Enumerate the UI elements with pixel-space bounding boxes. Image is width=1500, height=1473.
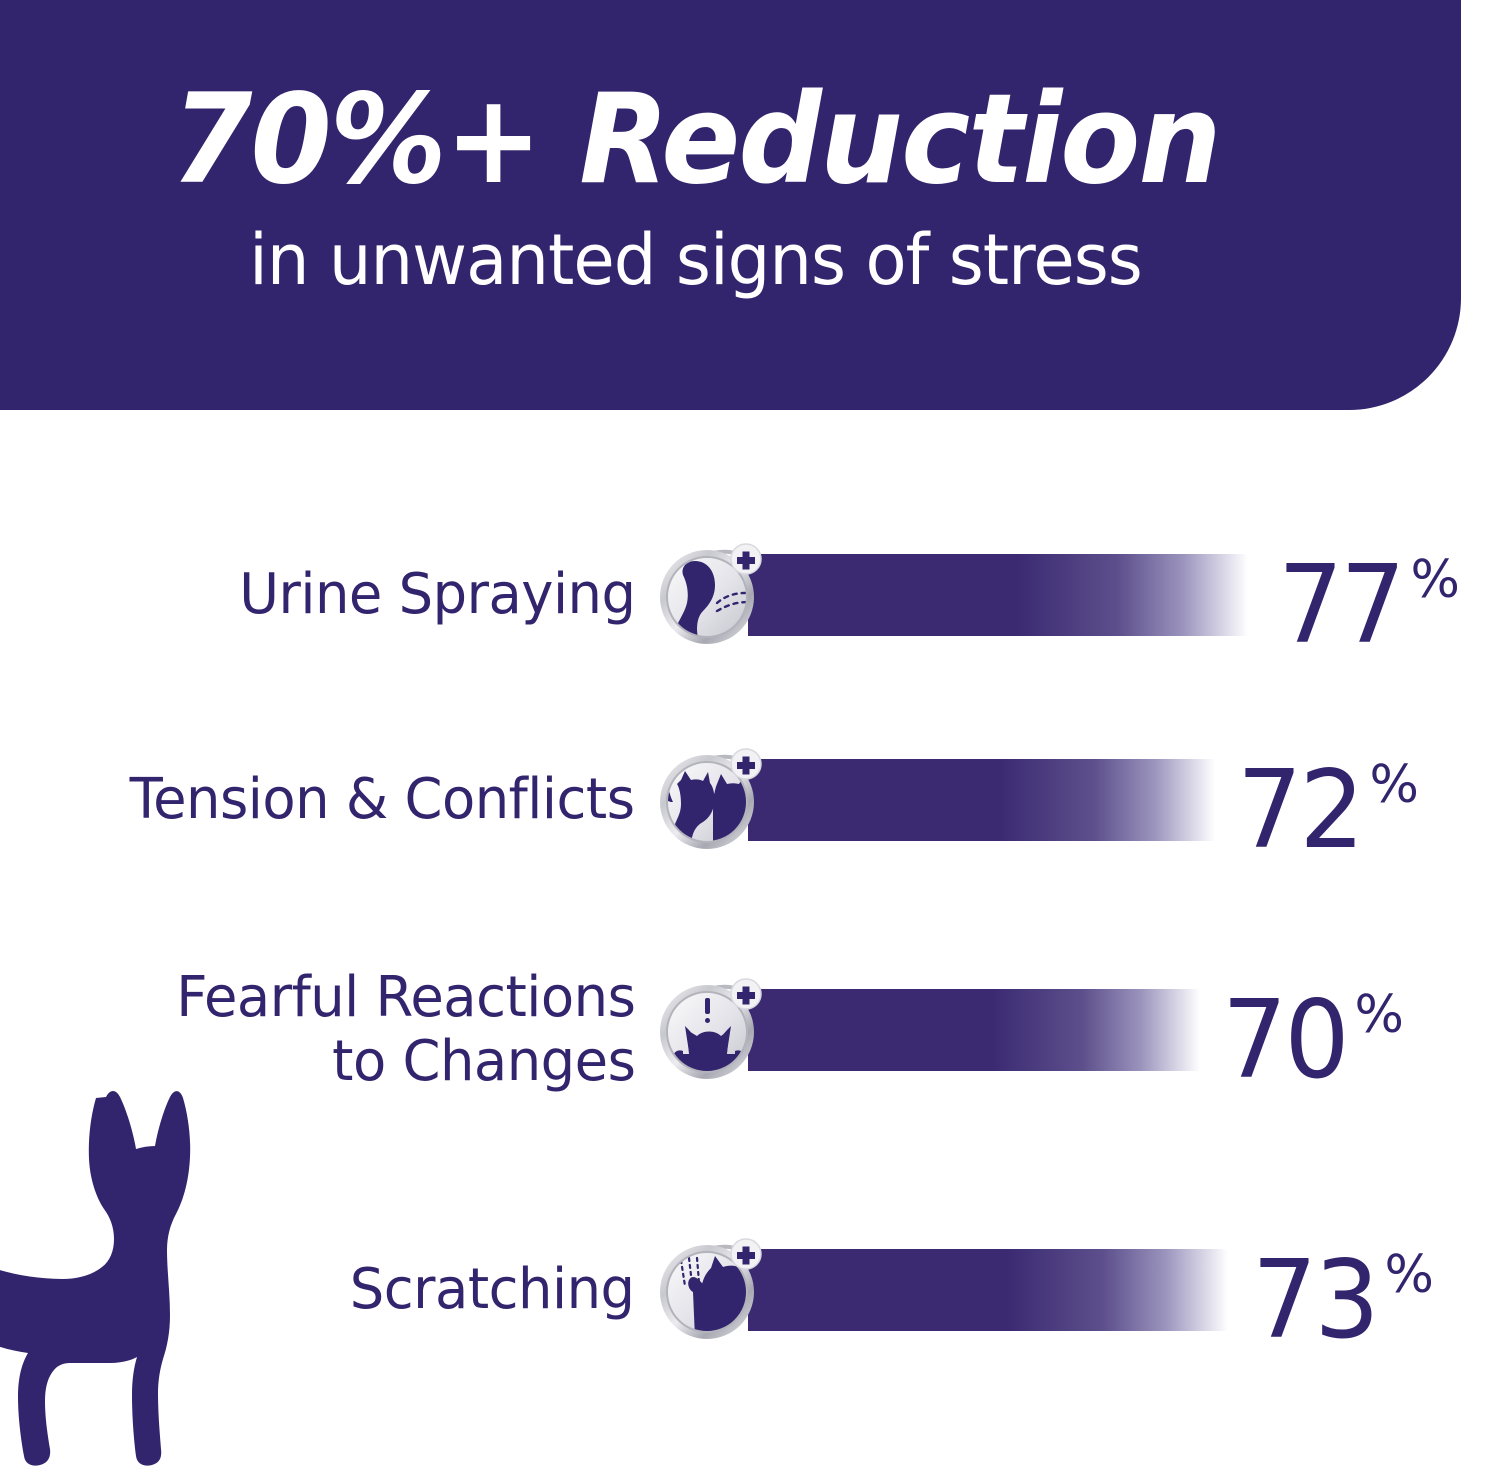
bar-fill xyxy=(748,554,1248,636)
bar-row: Scratching xyxy=(0,1235,1500,1345)
header-text-block: 70%+ Reduction in unwanted signs of stre… xyxy=(0,78,1461,298)
bar-track xyxy=(748,554,1248,636)
cat-spraying-icon xyxy=(655,539,767,651)
bar-value-unit: % xyxy=(1369,759,1415,811)
bar-value-number: 70 xyxy=(1222,987,1347,1095)
bar-value: 70 % xyxy=(1222,987,1401,1095)
bar-value-unit: % xyxy=(1354,989,1400,1041)
cat-scratching-icon xyxy=(655,1234,767,1346)
bar-fill xyxy=(748,989,1200,1071)
bar-track xyxy=(748,1249,1228,1331)
bar-value-unit: % xyxy=(1384,1249,1430,1301)
bar-row-label: Fearful Reactions to Changes xyxy=(176,966,635,1094)
bar-track xyxy=(748,989,1200,1071)
bar-value-number: 73 xyxy=(1252,1247,1377,1355)
bar-row: Urine Spraying xyxy=(0,540,1500,650)
bar-row-label: Scratching xyxy=(350,1258,635,1322)
bar-value-number: 77 xyxy=(1278,552,1403,660)
two-cats-conflict-icon xyxy=(655,744,767,856)
bar-value-unit: % xyxy=(1410,554,1456,606)
bar-row-label: Tension & Conflicts xyxy=(130,768,635,832)
page-title: 70%+ Reduction xyxy=(42,78,1350,202)
bar-fill xyxy=(748,759,1215,841)
bar-track xyxy=(748,759,1215,841)
fearful-cat-icon xyxy=(655,974,767,1086)
bar-row-label: Urine Spraying xyxy=(239,563,635,627)
bar-value: 73 % xyxy=(1252,1247,1431,1355)
bar-row: Tension & Conflicts xyxy=(0,745,1500,855)
infographic-page: 70%+ Reduction in unwanted signs of stre… xyxy=(0,0,1500,1473)
bar-value: 77 % xyxy=(1278,552,1457,660)
bar-fill xyxy=(748,1249,1228,1331)
page-subtitle: in unwanted signs of stress xyxy=(28,224,1363,298)
bar-row: Fearful Reactions to Changes xyxy=(0,975,1500,1085)
bar-value-number: 72 xyxy=(1237,757,1362,865)
bar-value: 72 % xyxy=(1237,757,1416,865)
header-banner: 70%+ Reduction in unwanted signs of stre… xyxy=(0,0,1461,410)
